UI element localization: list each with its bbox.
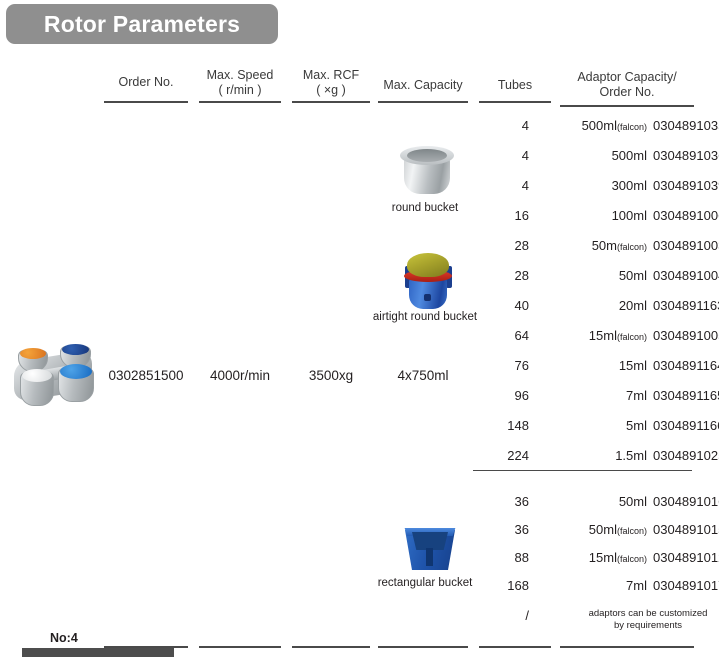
- adaptor-row: 16100ml0304891006: [473, 208, 692, 226]
- column-rule-max-capacity: [378, 101, 468, 103]
- rectangular-bucket-tab: [426, 548, 433, 566]
- adaptor-falcon-marker: (falcon): [617, 122, 647, 132]
- column-header-tubes: Tubes: [479, 78, 551, 93]
- adaptor-capacity: 7ml: [535, 578, 647, 593]
- rotor-tubes-darkblue: [62, 344, 89, 355]
- column-rule-tubes: [479, 101, 551, 103]
- adaptor-capacity: 50ml: [535, 268, 647, 283]
- adaptor-order-no: 0304891035: [653, 118, 719, 133]
- adaptor-order-no: 0304891039: [653, 178, 719, 193]
- adaptor-capacity: 50m(falcon): [535, 238, 647, 253]
- adaptor-order-no: 0304891017: [653, 578, 719, 593]
- adaptor-tubes-count: 4: [473, 118, 529, 133]
- adaptor-falcon-marker: (falcon): [617, 242, 647, 252]
- column-header-max-rcf-line1: Max. RCF: [292, 68, 370, 83]
- footer-accent-bar: [22, 648, 174, 657]
- adaptor-row: 8815ml(falcon)0304891012: [473, 550, 692, 568]
- adaptor-tubes-count: 36: [473, 522, 529, 537]
- adaptor-tubes-count: 76: [473, 358, 529, 373]
- airtight-round-bucket-image: [396, 250, 460, 308]
- footer-rule-6: [560, 646, 694, 648]
- adaptor-row: 3650ml(falcon)0304891015: [473, 522, 692, 540]
- rectangular-bucket-image: [396, 522, 464, 574]
- adaptor-capacity: 15ml(falcon): [535, 550, 647, 565]
- adaptor-row: 4500ml0304891036: [473, 148, 692, 166]
- round-bucket-interior: [407, 149, 447, 162]
- adaptor-row: 4500ml(falcon)0304891035: [473, 118, 692, 136]
- adaptor-capacity: 1.5ml: [535, 448, 647, 463]
- adaptor-capacity: 100ml: [535, 208, 647, 223]
- adaptor-falcon-marker: (falcon): [617, 526, 647, 536]
- spec-max-speed: 4000r/min: [199, 368, 281, 383]
- adaptor-capacity: 15ml(falcon): [535, 328, 647, 343]
- adaptor-order-no: 0304891015: [653, 522, 719, 537]
- adaptor-order-no: 0304891005: [653, 328, 719, 343]
- adaptor-capacity: 50ml: [535, 494, 647, 509]
- footer-rule-2: [199, 646, 281, 648]
- rotor-lid-white: [22, 369, 52, 382]
- rectangular-bucket-caption: rectangular bucket: [366, 577, 484, 589]
- column-rule-max-rcf: [292, 101, 370, 103]
- adaptor-list-divider: [473, 470, 692, 471]
- adaptor-capacity: 500ml(falcon): [535, 118, 647, 133]
- column-header-adaptor-line1: Adaptor Capacity/: [560, 70, 694, 85]
- adaptor-tubes-count: 168: [473, 578, 529, 593]
- column-header-max-speed: Max. Speed ( r/min ): [199, 68, 281, 97]
- airtight-bucket-latch: [424, 294, 431, 301]
- adaptor-row: 1485ml0304891166: [473, 418, 692, 436]
- footer-rule-4: [378, 646, 468, 648]
- adaptor-row: 2850ml0304891004: [473, 268, 692, 286]
- adaptor-row: 6415ml(falcon)0304891005: [473, 328, 692, 346]
- adaptor-order-no: 0304891036: [653, 148, 719, 163]
- adaptor-capacity: 5ml: [535, 418, 647, 433]
- adaptor-row: 1687ml0304891017: [473, 578, 692, 596]
- adaptor-order-no: 0304891016: [653, 494, 719, 509]
- adaptor-note-row: /adaptors can be customizedby requiremen…: [473, 608, 692, 626]
- round-bucket-image: [396, 140, 458, 200]
- adaptor-tubes-count: 88: [473, 550, 529, 565]
- column-header-tubes-line1: Tubes: [479, 78, 551, 93]
- page-title-badge: Rotor Parameters: [6, 4, 278, 44]
- rotor-image: [8, 338, 102, 414]
- adaptor-tubes-count: 4: [473, 178, 529, 193]
- rotor-tubes-orange: [20, 348, 46, 359]
- adaptor-capacity: 7ml: [535, 388, 647, 403]
- adaptor-row: 967ml0304891165: [473, 388, 692, 406]
- airtight-bucket-lid: [407, 253, 449, 277]
- adaptor-tubes-count: 28: [473, 268, 529, 283]
- adaptor-tubes-count: 40: [473, 298, 529, 313]
- column-rule-max-speed: [199, 101, 281, 103]
- adaptor-order-no: 0304891004: [653, 268, 719, 283]
- adaptor-order-no: 0304891165: [653, 388, 719, 403]
- adaptor-capacity: 50ml(falcon): [535, 522, 647, 537]
- airtight-round-bucket-caption: airtight round bucket: [365, 311, 485, 323]
- page-title: Rotor Parameters: [44, 11, 240, 38]
- adaptor-capacity: 20ml: [535, 298, 647, 313]
- adaptor-row: 2850m(falcon)0304891003: [473, 238, 692, 256]
- adaptor-order-no: 0304891166: [653, 418, 719, 433]
- adaptor-capacity: 15ml: [535, 358, 647, 373]
- adaptor-note-line2: by requirements: [535, 620, 719, 632]
- adaptor-tubes-count: 148: [473, 418, 529, 433]
- column-header-max-capacity: Max. Capacity: [376, 78, 470, 93]
- adaptor-tubes-count: 224: [473, 448, 529, 463]
- adaptor-order-no: 0304891164: [653, 358, 719, 373]
- column-header-adaptor: Adaptor Capacity/ Order No.: [560, 70, 694, 99]
- adaptor-tubes-count: 16: [473, 208, 529, 223]
- adaptor-note-line1: adaptors can be customized: [535, 608, 719, 620]
- adaptor-note-tubes: /: [473, 608, 529, 623]
- adaptor-tubes-count: 28: [473, 238, 529, 253]
- adaptor-tubes-count: 64: [473, 328, 529, 343]
- adaptor-order-no: 0304891003: [653, 238, 719, 253]
- adaptor-capacity: 300ml: [535, 178, 647, 193]
- footer-rule-5: [479, 646, 551, 648]
- adaptor-order-no: 0304891006: [653, 208, 719, 223]
- adaptor-tubes-count: 4: [473, 148, 529, 163]
- adaptor-order-no: 0304891025: [653, 448, 719, 463]
- spec-sheet-page: Rotor Parameters Order No. Max. Speed ( …: [0, 0, 719, 665]
- column-header-max-rcf-line2: ( ×g ): [292, 83, 370, 98]
- adaptor-capacity: 500ml: [535, 148, 647, 163]
- spec-order-no: 0302851500: [104, 368, 188, 383]
- column-header-max-speed-line1: Max. Speed: [199, 68, 281, 83]
- spec-max-capacity: 4x750ml: [376, 368, 470, 383]
- column-header-max-rcf: Max. RCF ( ×g ): [292, 68, 370, 97]
- column-header-adaptor-line2: Order No.: [560, 85, 694, 100]
- spec-max-rcf: 3500xg: [292, 368, 370, 383]
- adaptor-note-text: adaptors can be customizedby requirement…: [535, 608, 719, 632]
- adaptor-row: 4020ml0304891163: [473, 298, 692, 316]
- column-rule-adaptor: [560, 105, 694, 107]
- adaptor-row: 7615ml0304891164: [473, 358, 692, 376]
- column-rule-order-no: [104, 101, 188, 103]
- adaptor-tubes-count: 36: [473, 494, 529, 509]
- column-header-max-speed-line2: ( r/min ): [199, 83, 281, 98]
- rotor-tubes-lightblue: [60, 364, 92, 379]
- footer-rule-1: [104, 646, 188, 648]
- adaptor-tubes-count: 96: [473, 388, 529, 403]
- adaptor-row: 2241.5ml0304891025: [473, 448, 692, 466]
- column-header-order-no: Order No.: [104, 75, 188, 90]
- adaptor-falcon-marker: (falcon): [617, 554, 647, 564]
- footer-page-number: No:4: [50, 631, 78, 645]
- adaptor-order-no: 0304891163: [653, 298, 719, 313]
- adaptor-order-no: 0304891012: [653, 550, 719, 565]
- footer-rule-3: [292, 646, 370, 648]
- adaptor-row: 4300ml0304891039: [473, 178, 692, 196]
- round-bucket-caption: round bucket: [373, 202, 477, 214]
- adaptor-row: 3650ml0304891016: [473, 494, 692, 512]
- column-header-order-no-line1: Order No.: [104, 75, 188, 90]
- adaptor-falcon-marker: (falcon): [617, 332, 647, 342]
- column-header-max-capacity-line1: Max. Capacity: [376, 78, 470, 93]
